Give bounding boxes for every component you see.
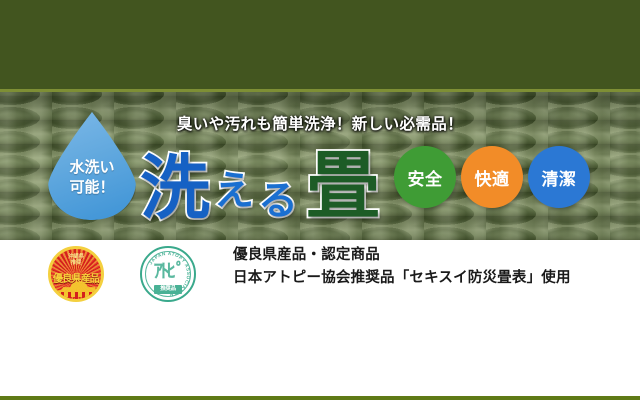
title-char-tatami: 畳 [306, 149, 380, 223]
feature-circles: 安全 快適 清潔 [394, 146, 634, 208]
water-drop-label: 水洗い 可能！ [48, 158, 136, 199]
okinawa-seal-top-text: 沖縄県 推奨 [51, 254, 101, 267]
water-drop-badge: 水洗い 可能！ [48, 112, 136, 220]
okinawa-prefecture-seal-icon: 沖縄県 推奨 優良県産品 [48, 246, 104, 302]
title-char-arau: 洗 [140, 153, 210, 223]
feature-circle-cleanliness: 清潔 [528, 146, 590, 208]
atopy-seal-emblem-glyph: ｱﾄﾋﾟ [151, 261, 185, 283]
top-olive-band [0, 0, 640, 91]
info-line-certification: 優良県産品・認定商品 [233, 244, 633, 267]
main-title: 洗 え る 畳 [140, 143, 380, 223]
product-banner: 臭いや汚れも簡単洗浄！新しい必需品！ 洗 え る 畳 水洗い 可能！ 安全 快適… [0, 0, 640, 400]
title-char-ru: る [258, 181, 298, 221]
water-drop-label-line2: 可能！ [48, 178, 136, 198]
product-info-text: 優良県産品・認定商品 日本アトピー協会推奨品「セキスイ防災畳表」使用 [233, 244, 633, 291]
feature-circle-comfort: 快適 [461, 146, 523, 208]
info-line-atopy-recommendation: 日本アトピー協会推奨品「セキスイ防災畳表」使用 [233, 267, 633, 290]
castle-base-decoration [61, 292, 97, 299]
atopy-seal-label: 推奨品 [154, 285, 182, 294]
title-char-e: え [214, 171, 254, 211]
feature-circle-safety: 安全 [394, 146, 456, 208]
okinawa-seal-top-line2: 推奨 [51, 260, 101, 266]
bottom-olive-bar [0, 396, 640, 400]
atopy-association-seal-icon: JAPAN ATOPY ASSOCIATION ｱﾄﾋﾟ 推奨品 [140, 246, 196, 302]
water-drop-label-line1: 水洗い [48, 158, 136, 178]
